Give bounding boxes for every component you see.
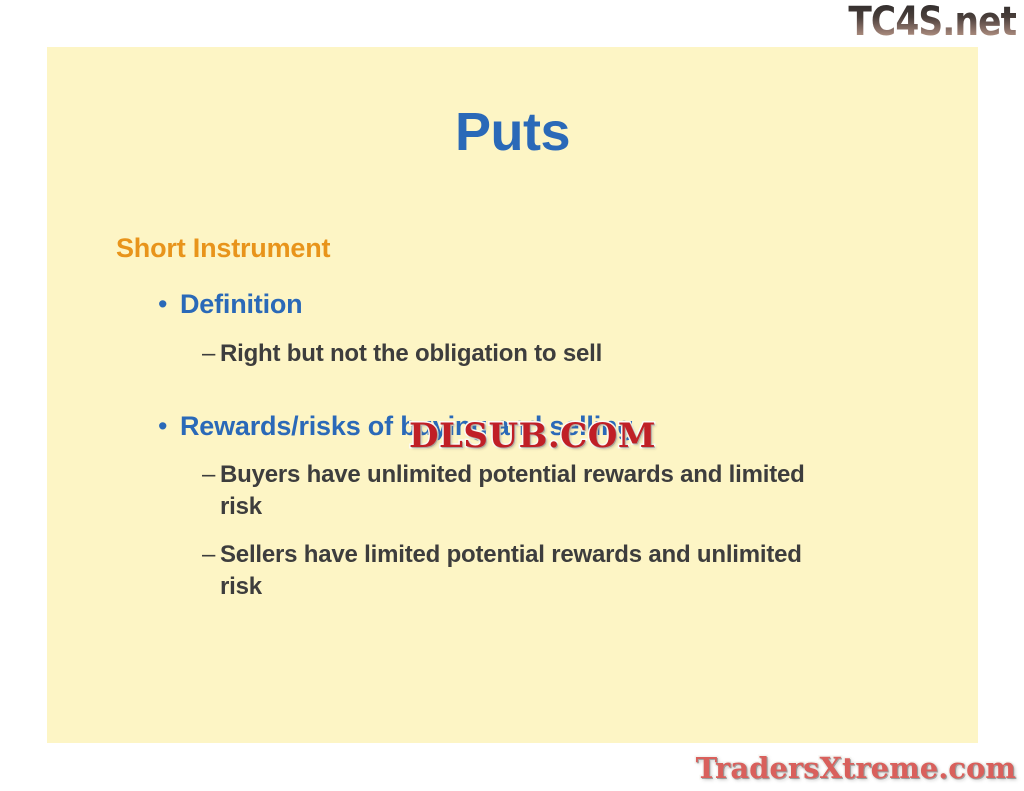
outline-item-definition: • Definition: [116, 288, 961, 322]
spacer: [116, 328, 961, 338]
spacer: [116, 376, 961, 390]
bullet-dash-icon: –: [202, 459, 220, 490]
watermark-dlsub-com: DLSUB.COM: [409, 419, 656, 453]
bullet-dash-icon: –: [202, 539, 220, 570]
watermark-tc4s-net: TC4S.net: [848, 2, 1016, 42]
outline-item-buyers: – Buyers have unlimited potential reward…: [116, 459, 961, 523]
outline-item-sellers: – Sellers have limited potential rewards…: [116, 539, 961, 603]
bullet-dot-icon: •: [158, 288, 180, 322]
watermark-tradersxtreme-com: TradersXtreme.com: [696, 754, 1016, 783]
slide-title: Puts: [47, 105, 978, 159]
outline-item-right-to-sell: – Right but not the obligation to sell: [116, 338, 961, 370]
outline-item-level3-label: Sellers have limited potential rewards a…: [220, 539, 840, 603]
outline-item-level3-label: Right but not the obligation to sell: [220, 338, 602, 370]
slide-panel: Puts Short Instrument • Definition – Rig…: [47, 47, 978, 743]
bullet-dash-icon: –: [202, 338, 220, 369]
spacer: [116, 390, 961, 404]
outline-item-level1: Short Instrument: [116, 233, 961, 264]
bullet-dot-icon: •: [158, 410, 180, 444]
outline-item-level2-label: Definition: [180, 288, 302, 322]
spacer: [116, 529, 961, 539]
spacer: [116, 274, 961, 288]
outline-item-level3-label: Buyers have unlimited potential rewards …: [220, 459, 840, 523]
